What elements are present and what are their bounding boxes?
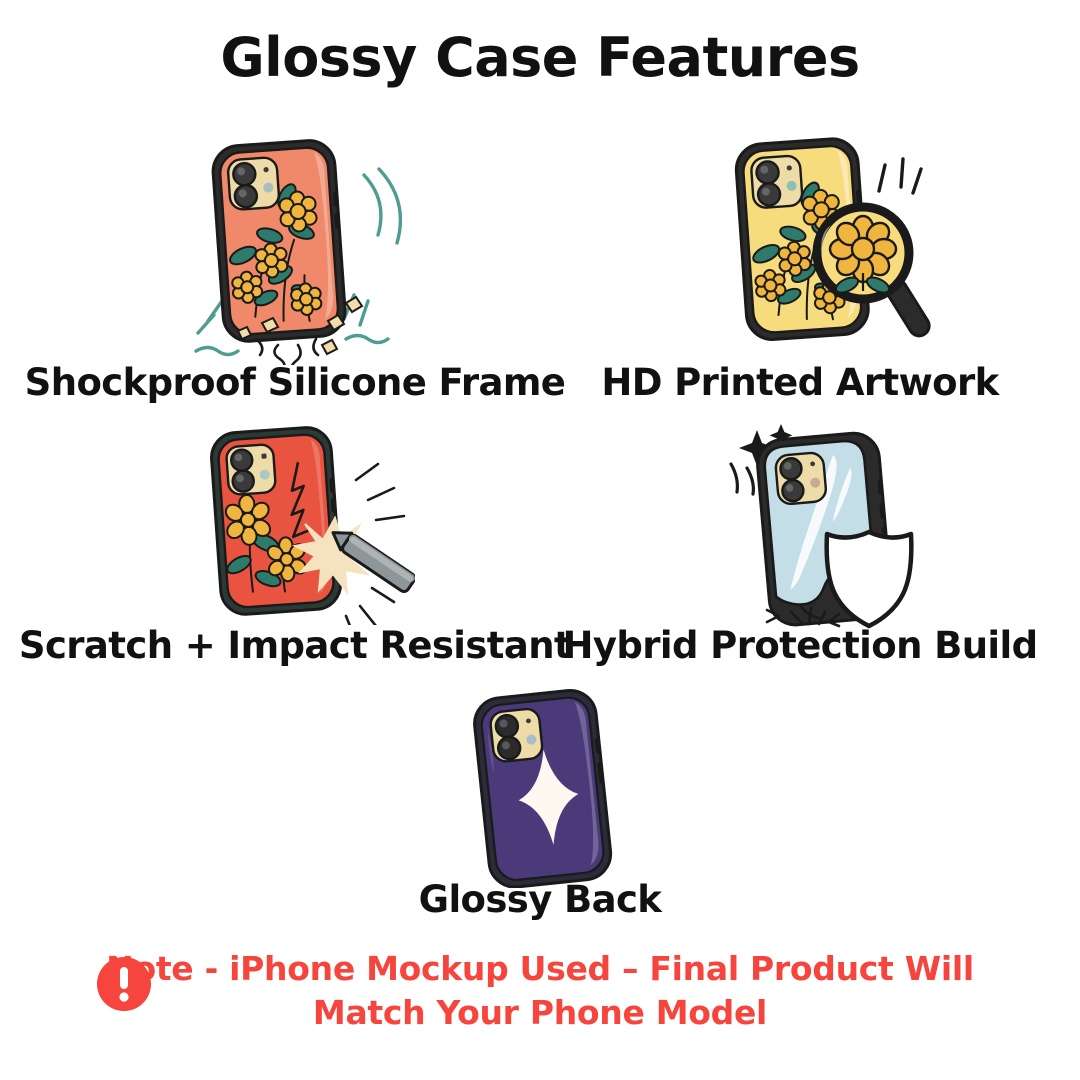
- note-banner: Note - iPhone Mockup Used – Final Produc…: [0, 948, 1080, 1036]
- exclamation-circle-icon: [96, 956, 152, 1012]
- feature-scratch-impact: Scratch + Impact Resistant: [10, 420, 580, 685]
- feature-label-shockproof: Shockproof Silicone Frame: [10, 361, 580, 404]
- feature-label-hybrid-protection: Hybrid Protection Build: [520, 624, 1080, 667]
- note-line-1: Note - iPhone Mockup Used – Final Produc…: [0, 948, 1080, 990]
- phone-case-purple-sparkle-icon: [435, 688, 645, 892]
- phone-case-red-knife-strike-icon: [180, 420, 415, 629]
- feature-glossy-back: Glossy Back: [255, 688, 825, 938]
- feature-hybrid-protection: Hybrid Protection Build: [520, 420, 1080, 685]
- feature-hd-printed: HD Printed Artwork: [520, 125, 1080, 415]
- feature-label-glossy-back: Glossy Back: [255, 878, 825, 921]
- phone-case-coral-floral-impact-icon: [178, 125, 418, 369]
- phone-case-yellow-floral-magnifier-icon: [715, 125, 965, 364]
- phone-case-blue-black-shield-icon: [715, 420, 945, 634]
- note-line-2: Match Your Phone Model: [0, 990, 1080, 1036]
- page-title: Glossy Case Features: [0, 26, 1080, 89]
- feature-shockproof: Shockproof Silicone Frame: [10, 125, 580, 415]
- feature-label-scratch-impact: Scratch + Impact Resistant: [10, 624, 580, 667]
- infographic-page: Glossy Case Features: [0, 0, 1080, 1080]
- feature-label-hd-printed: HD Printed Artwork: [520, 361, 1080, 404]
